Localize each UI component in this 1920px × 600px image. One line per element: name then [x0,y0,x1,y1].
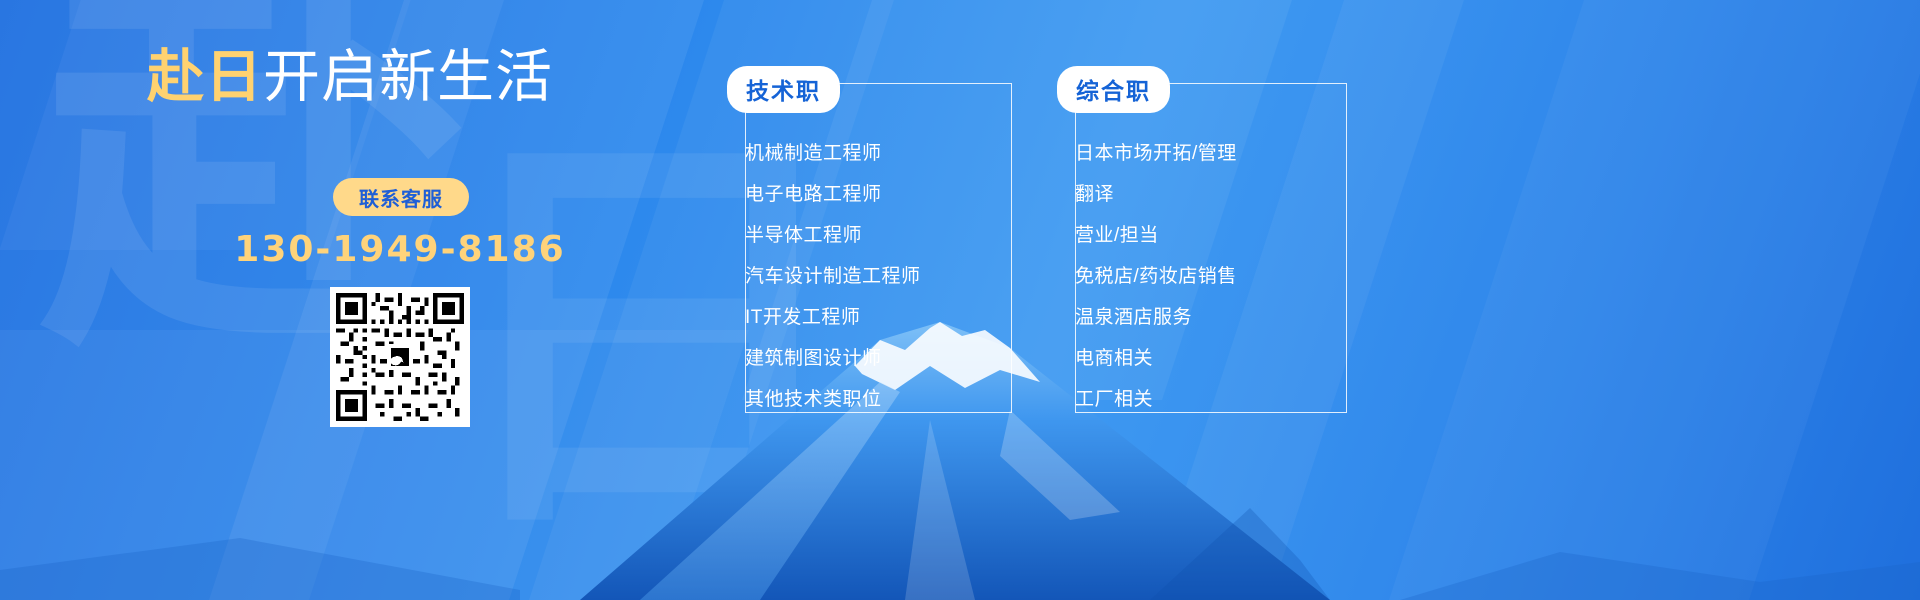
list-item[interactable]: 建筑制图设计师 [745,349,1012,368]
job-column-title-general: 综合职 [1057,66,1170,113]
page-title: 赴日开启新生活 [0,46,700,109]
list-item[interactable]: 半导体工程师 [745,226,1012,245]
phone-number: 130-1949-8186 [0,229,800,270]
job-column-title-technical: 技术职 [727,66,840,113]
headline-accent: 赴日 [147,45,263,109]
list-item[interactable]: IT开发工程师 [745,308,1012,327]
contact-support-button[interactable]: 联系客服 [333,178,469,216]
qr-code[interactable] [330,287,470,427]
list-item[interactable]: 免税店/药妆店销售 [1075,267,1347,286]
job-list-technical: 机械制造工程师 电子电路工程师 半导体工程师 汽车设计制造工程师 IT开发工程师… [727,113,1012,409]
qr-code-image [336,293,464,421]
list-item[interactable]: 汽车设计制造工程师 [745,267,1012,286]
list-item[interactable]: 机械制造工程师 [745,144,1012,163]
list-item[interactable]: 日本市场开拓/管理 [1075,144,1347,163]
list-item[interactable]: 其他技术类职位 [745,390,1012,409]
list-item[interactable]: 工厂相关 [1075,390,1347,409]
list-item[interactable]: 电商相关 [1075,349,1347,368]
list-item[interactable]: 翻译 [1075,185,1347,204]
list-item[interactable]: 电子电路工程师 [745,185,1012,204]
headline-rest: 开启新生活 [263,45,553,109]
list-item[interactable]: 营业/担当 [1075,226,1347,245]
list-item[interactable]: 温泉酒店服务 [1075,308,1347,327]
job-column-technical: 技术职 机械制造工程师 电子电路工程师 半导体工程师 汽车设计制造工程师 IT开… [727,66,1012,431]
left-content: 赴日开启新生活 联系客服 130-1949-8186 [0,0,700,600]
job-column-general: 综合职 日本市场开拓/管理 翻译 营业/担当 免税店/药妆店销售 温泉酒店服务 … [1057,66,1347,431]
promo-banner: 赴 日 赴日开启新生活 联系客服 130-1949-8186 [0,0,1920,600]
job-list-general: 日本市场开拓/管理 翻译 营业/担当 免税店/药妆店销售 温泉酒店服务 电商相关… [1057,113,1347,409]
